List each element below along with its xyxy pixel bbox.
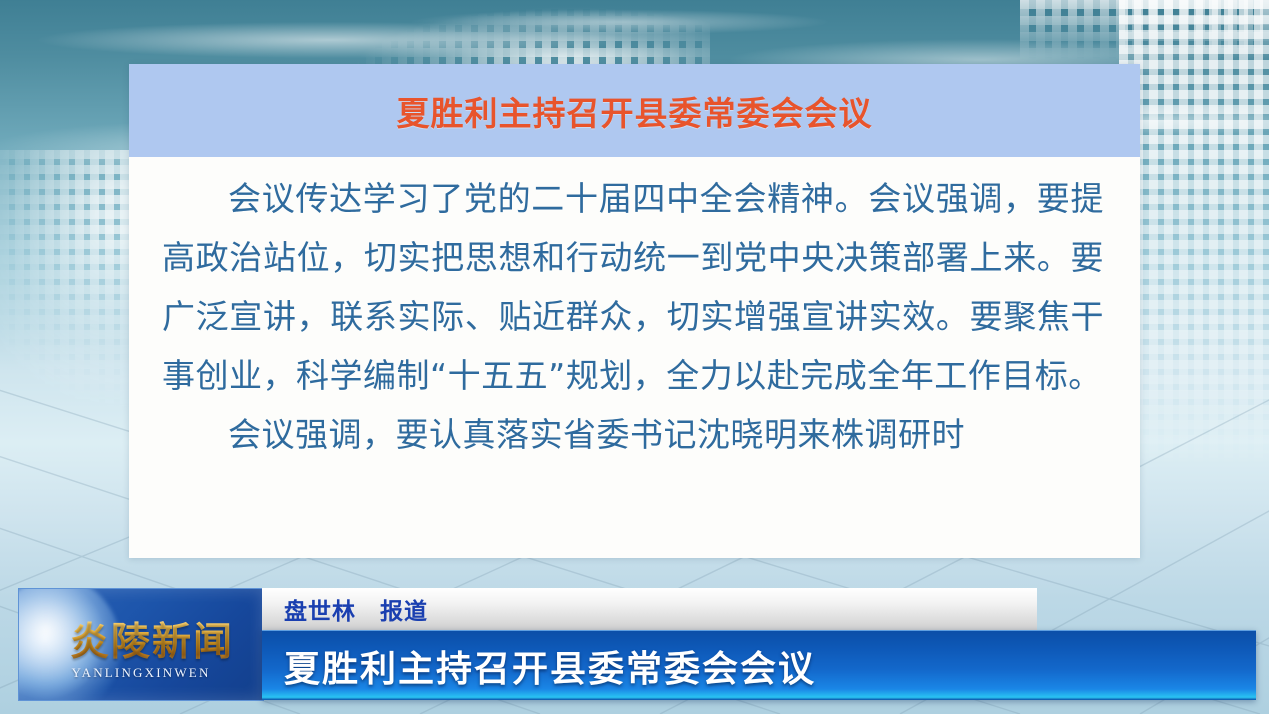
channel-logo: 炎陵新闻 YANLINGXINWEN (18, 588, 264, 701)
tv-broadcast-screen: 夏胜利主持召开县委常委会会议 会议传达学习了党的二十届四中全会精神。会议强调，要… (0, 0, 1269, 714)
channel-logo-chinese-text: 炎陵新闻 (49, 611, 255, 667)
reporter-credit-text: 盘世林 报道 (284, 592, 428, 626)
card-title-bar: 夏胜利主持召开县委常委会会议 (129, 64, 1140, 157)
headline-text: 夏胜利主持召开县委常委会会议 (284, 640, 816, 692)
body-paragraph-2: 会议强调，要认真落实省委书记沈晓明来株调研时 (162, 405, 1104, 464)
card-body: 会议传达学习了党的二十届四中全会精神。会议强调，要提高政治站位，切实把思想和行动… (129, 157, 1140, 546)
body-paragraph-1: 会议传达学习了党的二十届四中全会精神。会议强调，要提高政治站位，切实把思想和行动… (162, 169, 1104, 405)
headline-banner: 夏胜利主持召开县委常委会会议 (262, 630, 1256, 700)
page-title: 夏胜利主持召开县委常委会会议 (397, 87, 873, 135)
lower-third-overlay: 炎陵新闻 YANLINGXINWEN 盘世林 报道 夏胜利主持召开县委常委会会议 (0, 580, 1269, 714)
news-content-card: 夏胜利主持召开县委常委会会议 会议传达学习了党的二十届四中全会精神。会议强调，要… (129, 64, 1140, 558)
channel-logo-pinyin-text: YANLINGXINWEN (19, 665, 263, 681)
reporter-credit-bar: 盘世林 报道 (262, 588, 1037, 630)
